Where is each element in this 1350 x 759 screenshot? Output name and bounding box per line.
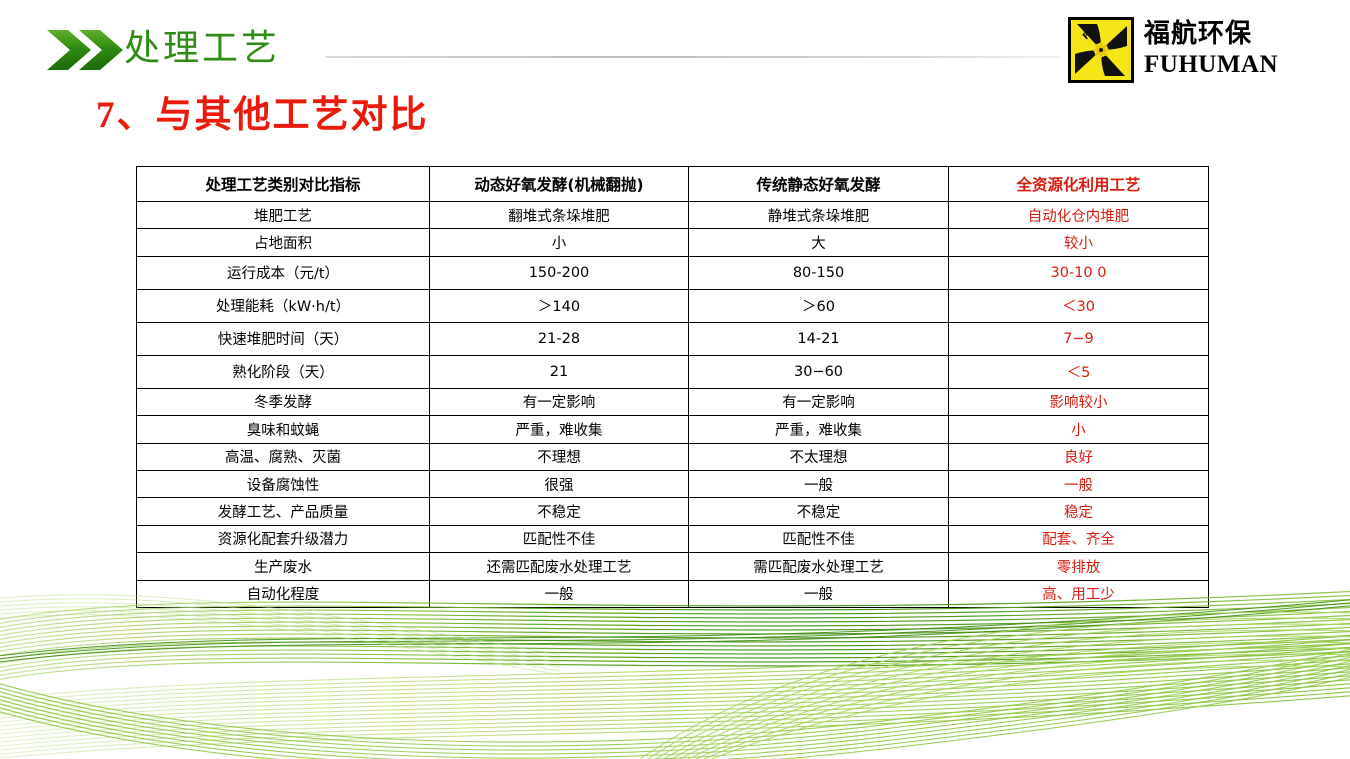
table-cell-metric: 快速堆肥时间（天） [137, 322, 430, 355]
table-row: 资源化配套升级潜力匹配性不佳匹配性不佳配套、齐全 [137, 525, 1209, 552]
comparison-table: 处理工艺类别对比指标 动态好氧发酵(机械翻抛) 传统静态好氧发酵 全资源化利用工… [136, 166, 1209, 608]
header-divider [326, 56, 1061, 58]
double-chevron-right-icon [46, 28, 124, 72]
table-cell-value: 良好 [949, 443, 1209, 470]
table-cell-value: 21 [430, 355, 689, 388]
table-cell-value: 匹配性不佳 [430, 525, 689, 552]
table-cell-value: 有一定影响 [689, 388, 949, 415]
table-cell-metric: 资源化配套升级潜力 [137, 525, 430, 552]
table-cell-value: 影响较小 [949, 388, 1209, 415]
table-cell-value: 大 [689, 229, 949, 256]
table-cell-value: 较小 [949, 229, 1209, 256]
table-cell-value: 有一定影响 [430, 388, 689, 415]
section-label: 处理工艺 [124, 25, 280, 71]
fuhuman-pinwheel-logo-icon: F F F F [1068, 17, 1134, 83]
table-cell-value: ＞60 [689, 289, 949, 322]
table-row: 熟化阶段（天）2130−60＜5 [137, 355, 1209, 388]
table-cell-metric: 占地面积 [137, 229, 430, 256]
table-cell-value: 150-200 [430, 256, 689, 289]
table-row: 冬季发酵有一定影响有一定影响影响较小 [137, 388, 1209, 415]
table-cell-value: ＞140 [430, 289, 689, 322]
table-cell-value: 一般 [689, 470, 949, 497]
table-row: 快速堆肥时间（天）21-2814-217−9 [137, 322, 1209, 355]
table-cell-value: 静堆式条垛堆肥 [689, 202, 949, 229]
table-cell-metric: 堆肥工艺 [137, 202, 430, 229]
table-cell-value: 自动化仓内堆肥 [949, 202, 1209, 229]
table-cell-value: 不稳定 [689, 498, 949, 525]
comparison-table-container: 处理工艺类别对比指标 动态好氧发酵(机械翻抛) 传统静态好氧发酵 全资源化利用工… [136, 166, 1208, 608]
table-row: 臭味和蚊蝇严重，难收集严重，难收集小 [137, 416, 1209, 443]
table-cell-value: 30-10 0 [949, 256, 1209, 289]
table-row: 设备腐蚀性很强一般一般 [137, 470, 1209, 497]
table-cell-value: ＜30 [949, 289, 1209, 322]
table-cell-value: 30−60 [689, 355, 949, 388]
table-cell-value: 21-28 [430, 322, 689, 355]
column-header-dynamic: 动态好氧发酵(机械翻抛) [430, 167, 689, 202]
table-cell-value: 小 [949, 416, 1209, 443]
table-cell-value: 严重，难收集 [689, 416, 949, 443]
column-header-static: 传统静态好氧发酵 [689, 167, 949, 202]
table-cell-metric: 运行成本（元/t） [137, 256, 430, 289]
page-title: 7、与其他工艺对比 [96, 92, 429, 140]
table-cell-value: 7−9 [949, 322, 1209, 355]
table-cell-metric: 冬季发酵 [137, 388, 430, 415]
column-header-metric: 处理工艺类别对比指标 [137, 167, 430, 202]
table-cell-metric: 臭味和蚊蝇 [137, 416, 430, 443]
table-cell-value: 80-150 [689, 256, 949, 289]
brand-name-en: FUHUMAN [1144, 50, 1280, 79]
table-cell-metric: 处理能耗（kW·h/t） [137, 289, 430, 322]
table-cell-value: 小 [430, 229, 689, 256]
table-cell-value: 不太理想 [689, 443, 949, 470]
table-cell-value: 稳定 [949, 498, 1209, 525]
brand-wordmark: 福航环保 FUHUMAN [1144, 18, 1280, 79]
table-cell-metric: 设备腐蚀性 [137, 470, 430, 497]
table-cell-value: 配套、齐全 [949, 525, 1209, 552]
table-row: 发酵工艺、产品质量不稳定不稳定稳定 [137, 498, 1209, 525]
table-cell-value: 匹配性不佳 [689, 525, 949, 552]
table-row: 运行成本（元/t）150-20080-15030-10 0 [137, 256, 1209, 289]
table-cell-value: 翻堆式条垛堆肥 [430, 202, 689, 229]
column-header-fullresource: 全资源化利用工艺 [949, 167, 1209, 202]
table-cell-value: 很强 [430, 470, 689, 497]
table-cell-value: 严重，难收集 [430, 416, 689, 443]
table-row: 占地面积小大较小 [137, 229, 1209, 256]
slide-header: 处理工艺 F F F F [0, 0, 1350, 92]
table-cell-value: 14-21 [689, 322, 949, 355]
table-cell-metric: 高温、腐熟、灭菌 [137, 443, 430, 470]
table-body: 堆肥工艺翻堆式条垛堆肥静堆式条垛堆肥自动化仓内堆肥占地面积小大较小运行成本（元/… [137, 202, 1209, 608]
brand-name-cn: 福航环保 [1144, 18, 1280, 50]
table-cell-metric: 发酵工艺、产品质量 [137, 498, 430, 525]
table-row: 处理能耗（kW·h/t）＞140＞60＜30 [137, 289, 1209, 322]
table-cell-value: 不稳定 [430, 498, 689, 525]
brand-logo: F F F F [1068, 17, 1280, 83]
table-cell-value: 不理想 [430, 443, 689, 470]
table-row: 堆肥工艺翻堆式条垛堆肥静堆式条垛堆肥自动化仓内堆肥 [137, 202, 1209, 229]
table-header-row: 处理工艺类别对比指标 动态好氧发酵(机械翻抛) 传统静态好氧发酵 全资源化利用工… [137, 167, 1209, 202]
slide-root: 处理工艺 F F F F [0, 0, 1350, 759]
table-cell-value: ＜5 [949, 355, 1209, 388]
table-row: 高温、腐熟、灭菌不理想不太理想良好 [137, 443, 1209, 470]
table-cell-value: 一般 [949, 470, 1209, 497]
table-cell-metric: 熟化阶段（天） [137, 355, 430, 388]
green-wave-ribbon-decoration [0, 569, 1350, 759]
